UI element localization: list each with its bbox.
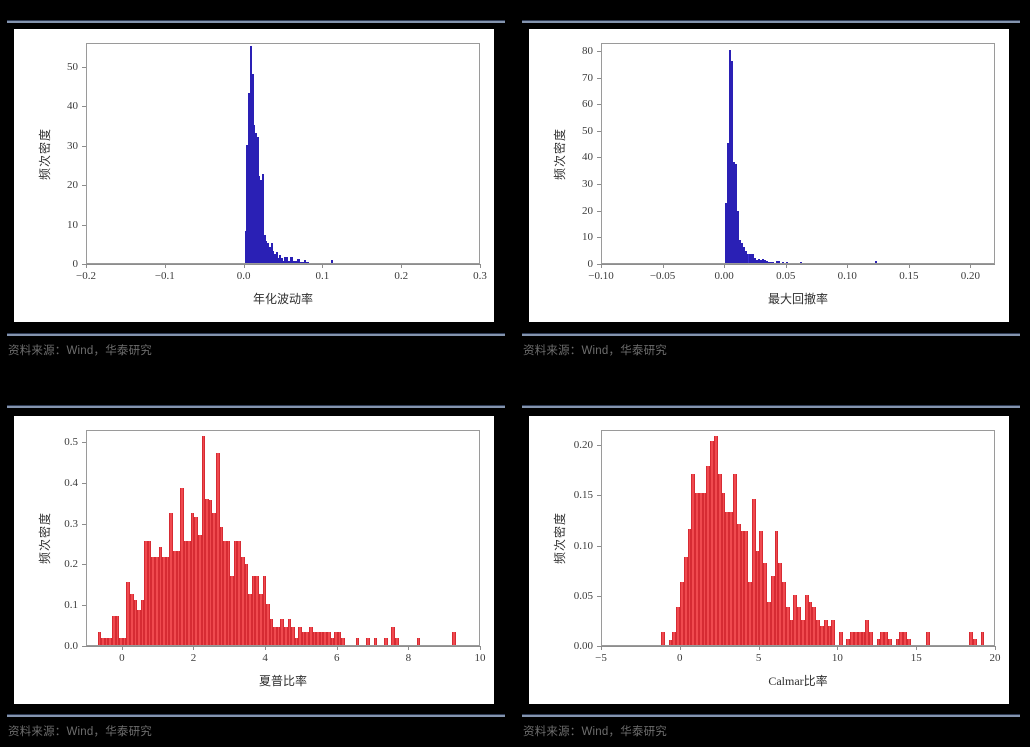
x-tick-label: 20 bbox=[990, 652, 1001, 664]
y-tick bbox=[82, 106, 86, 107]
x-tick bbox=[759, 646, 760, 650]
y-tick bbox=[597, 104, 601, 105]
source-note: 资料来源：Wind，华泰研究 bbox=[523, 723, 667, 739]
x-tick-label: 0.0 bbox=[237, 270, 251, 282]
y-tick bbox=[82, 483, 86, 484]
source-note: 资料来源：Wind，华泰研究 bbox=[8, 723, 152, 739]
histogram-sharpe-ratio: 02468100.00.10.20.30.40.5夏普比率频次密度 bbox=[14, 416, 494, 704]
x-tick-label: 10 bbox=[475, 652, 486, 664]
plot-frame bbox=[601, 43, 995, 264]
x-tick bbox=[193, 646, 194, 650]
y-axis-title: 频次密度 bbox=[36, 512, 53, 564]
histogram-bar bbox=[831, 620, 835, 645]
x-tick-label: 0.05 bbox=[776, 270, 795, 282]
y-tick-label: 0.15 bbox=[557, 489, 593, 501]
histogram-bar bbox=[839, 632, 843, 645]
y-tick bbox=[597, 596, 601, 597]
x-axis-title: Calmar比率 bbox=[768, 672, 827, 689]
y-axis-title: 频次密度 bbox=[551, 512, 568, 564]
x-tick bbox=[663, 264, 664, 268]
y-tick bbox=[82, 264, 86, 265]
panel-top-rule bbox=[7, 405, 505, 408]
panel-max-drawdown: −0.10−0.050.000.050.100.150.200102030405… bbox=[515, 0, 1030, 374]
x-tick bbox=[995, 646, 996, 650]
y-tick bbox=[597, 131, 601, 132]
histogram-calmar-ratio: −5051015200.000.050.100.150.20Calmar比率频次… bbox=[529, 416, 1009, 704]
y-tick bbox=[597, 237, 601, 238]
histogram-bar bbox=[869, 632, 873, 645]
y-tick-label: 0.0 bbox=[42, 640, 78, 652]
y-tick bbox=[82, 225, 86, 226]
x-tick-label: 0.20 bbox=[961, 270, 980, 282]
y-tick bbox=[82, 605, 86, 606]
source-note: 资料来源：Wind，华泰研究 bbox=[8, 342, 152, 358]
histogram-bar bbox=[907, 639, 911, 645]
plot-frame bbox=[601, 430, 995, 646]
y-tick-label: 0.1 bbox=[42, 599, 78, 611]
figure-annualized-volatility: −0.2−0.10.00.10.20.301020304050年化波动率频次密度 bbox=[14, 29, 494, 322]
histogram-bar bbox=[875, 261, 877, 263]
panel-top-rule bbox=[522, 20, 1020, 23]
bar-series bbox=[87, 44, 479, 263]
y-tick bbox=[82, 646, 86, 647]
y-tick bbox=[597, 495, 601, 496]
histogram-bar bbox=[307, 262, 309, 263]
y-tick bbox=[597, 445, 601, 446]
x-tick-label: 0.10 bbox=[838, 270, 857, 282]
histogram-bar bbox=[782, 262, 784, 263]
x-axis-title: 年化波动率 bbox=[253, 290, 313, 307]
panel-bottom-rule bbox=[7, 714, 505, 717]
panel-bottom-rule bbox=[522, 714, 1020, 717]
panel-top-rule bbox=[522, 405, 1020, 408]
y-tick bbox=[597, 78, 601, 79]
y-tick bbox=[82, 442, 86, 443]
histogram-bar bbox=[356, 638, 360, 645]
x-axis-line bbox=[601, 646, 995, 647]
bar-series bbox=[602, 44, 994, 263]
histogram-bar bbox=[366, 638, 370, 645]
x-tick-label: 4 bbox=[262, 652, 268, 664]
x-axis-line bbox=[86, 264, 480, 265]
y-tick-label: 60 bbox=[557, 98, 593, 110]
x-tick-label: −0.05 bbox=[650, 270, 675, 282]
y-tick-label: 0.5 bbox=[42, 436, 78, 448]
y-tick bbox=[597, 264, 601, 265]
panel-bottom-rule bbox=[7, 333, 505, 336]
histogram-bar bbox=[973, 639, 977, 645]
y-tick-label: 70 bbox=[557, 72, 593, 84]
plot-frame bbox=[86, 43, 480, 264]
panel-bottom-rule bbox=[522, 333, 1020, 336]
x-tick-label: 0 bbox=[119, 652, 125, 664]
y-tick bbox=[82, 564, 86, 565]
y-tick-label: 0 bbox=[557, 258, 593, 270]
x-tick bbox=[265, 646, 266, 650]
histogram-bar bbox=[800, 262, 802, 263]
panel-top-rule bbox=[7, 20, 505, 23]
x-tick bbox=[322, 264, 323, 268]
y-tick bbox=[597, 546, 601, 547]
source-note: 资料来源：Wind，华泰研究 bbox=[523, 342, 667, 358]
histogram-bar bbox=[786, 262, 788, 263]
x-tick-label: 0.1 bbox=[316, 270, 330, 282]
histogram-bar bbox=[395, 638, 399, 645]
x-tick bbox=[86, 264, 87, 268]
histogram-bar bbox=[331, 260, 333, 263]
x-tick-label: 0.15 bbox=[899, 270, 918, 282]
x-tick bbox=[337, 646, 338, 650]
histogram-bar bbox=[417, 638, 421, 645]
y-tick-label: 10 bbox=[42, 219, 78, 231]
histogram-bar bbox=[778, 261, 780, 263]
histogram-bar bbox=[888, 639, 892, 645]
x-tick bbox=[122, 646, 123, 650]
x-tick bbox=[909, 264, 910, 268]
figure-sharpe-ratio: 02468100.00.10.20.30.40.5夏普比率频次密度 bbox=[14, 416, 494, 704]
y-tick-label: 20 bbox=[42, 179, 78, 191]
histogram-bar bbox=[341, 638, 345, 645]
x-tick bbox=[408, 646, 409, 650]
panel-annualized-volatility: −0.2−0.10.00.10.20.301020304050年化波动率频次密度… bbox=[0, 0, 515, 374]
y-tick-label: 0.20 bbox=[557, 439, 593, 451]
chart-grid: −0.2−0.10.00.10.20.301020304050年化波动率频次密度… bbox=[0, 0, 1030, 747]
y-tick-label: 0.4 bbox=[42, 477, 78, 489]
histogram-bar bbox=[772, 262, 774, 263]
x-tick bbox=[970, 264, 971, 268]
x-axis-title: 最大回撤率 bbox=[768, 290, 828, 307]
x-tick bbox=[244, 264, 245, 268]
y-tick bbox=[597, 184, 601, 185]
y-tick-label: 20 bbox=[557, 205, 593, 217]
x-tick bbox=[601, 646, 602, 650]
y-tick bbox=[597, 157, 601, 158]
x-tick bbox=[480, 264, 481, 268]
x-tick bbox=[847, 264, 848, 268]
figure-max-drawdown: −0.10−0.050.000.050.100.150.200102030405… bbox=[529, 29, 1009, 322]
x-tick bbox=[837, 646, 838, 650]
figure-calmar-ratio: −5051015200.000.050.100.150.20Calmar比率频次… bbox=[529, 416, 1009, 704]
x-axis-line bbox=[86, 646, 480, 647]
y-tick-label: 0 bbox=[42, 258, 78, 270]
y-tick-label: 0.05 bbox=[557, 590, 593, 602]
x-tick-label: 0.2 bbox=[394, 270, 408, 282]
y-tick bbox=[597, 646, 601, 647]
x-tick bbox=[724, 264, 725, 268]
histogram-annualized-volatility: −0.2−0.10.00.10.20.301020304050年化波动率频次密度 bbox=[14, 29, 494, 322]
histogram-bar bbox=[661, 632, 665, 645]
x-tick-label: −0.1 bbox=[155, 270, 175, 282]
histogram-bar bbox=[374, 638, 378, 645]
histogram-bar bbox=[452, 632, 456, 645]
x-tick bbox=[401, 264, 402, 268]
x-tick-label: 6 bbox=[334, 652, 340, 664]
x-tick-label: 0.3 bbox=[473, 270, 487, 282]
bar-series bbox=[602, 431, 994, 645]
x-tick-label: −0.2 bbox=[76, 270, 96, 282]
x-tick-label: 0 bbox=[677, 652, 683, 664]
x-tick-label: 5 bbox=[756, 652, 762, 664]
x-tick-label: −5 bbox=[595, 652, 607, 664]
panel-calmar-ratio: −5051015200.000.050.100.150.20Calmar比率频次… bbox=[515, 374, 1030, 747]
panel-sharpe-ratio: 02468100.00.10.20.30.40.5夏普比率频次密度 资料来源：W… bbox=[0, 374, 515, 747]
histogram-bar bbox=[981, 632, 985, 645]
histogram-bar bbox=[384, 638, 388, 645]
y-tick bbox=[82, 146, 86, 147]
histogram-bar bbox=[926, 632, 930, 645]
bar-series bbox=[87, 431, 479, 645]
x-tick-label: −0.10 bbox=[588, 270, 613, 282]
y-tick bbox=[82, 67, 86, 68]
histogram-max-drawdown: −0.10−0.050.000.050.100.150.200102030405… bbox=[529, 29, 1009, 322]
x-tick-label: 2 bbox=[191, 652, 197, 664]
x-tick bbox=[916, 646, 917, 650]
x-tick bbox=[786, 264, 787, 268]
y-tick-label: 0.00 bbox=[557, 640, 593, 652]
x-tick-label: 8 bbox=[406, 652, 412, 664]
plot-frame bbox=[86, 430, 480, 646]
x-axis-line bbox=[601, 264, 995, 265]
y-tick bbox=[597, 211, 601, 212]
y-tick-label: 80 bbox=[557, 45, 593, 57]
x-tick bbox=[601, 264, 602, 268]
x-tick-label: 15 bbox=[911, 652, 922, 664]
x-tick-label: 10 bbox=[832, 652, 843, 664]
x-tick-label: 0.00 bbox=[715, 270, 734, 282]
x-axis-title: 夏普比率 bbox=[259, 672, 307, 689]
x-tick bbox=[480, 646, 481, 650]
y-tick-label: 50 bbox=[42, 61, 78, 73]
x-tick bbox=[165, 264, 166, 268]
y-tick bbox=[82, 524, 86, 525]
y-tick bbox=[82, 185, 86, 186]
y-tick bbox=[597, 51, 601, 52]
y-tick-label: 10 bbox=[557, 231, 593, 243]
y-tick-label: 40 bbox=[42, 100, 78, 112]
y-axis-title: 频次密度 bbox=[551, 127, 568, 179]
x-tick bbox=[680, 646, 681, 650]
y-axis-title: 频次密度 bbox=[36, 127, 53, 179]
